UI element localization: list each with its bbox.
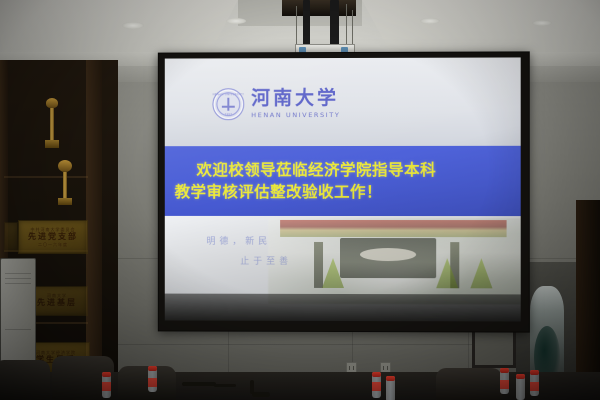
photo-building-roof [280, 220, 506, 237]
ac-vent [5, 283, 31, 284]
plaque-title: 先进党支部 [28, 232, 78, 242]
projector-mount-rod [303, 0, 310, 48]
wall-wood-post-right [576, 200, 600, 400]
bottle-label [530, 382, 539, 391]
downlight-icon [226, 18, 246, 24]
downlight-icon [420, 18, 440, 24]
bottle-cap [372, 372, 381, 377]
lecture-hall-photo: 中共河南大学委员会 先进党支部 二〇一六年度 河南大学 先进基层 河南大学经济学… [0, 0, 600, 400]
screen-shadow-band [165, 294, 521, 322]
meeting-chair [436, 368, 502, 400]
projector-cable [346, 4, 347, 48]
screen-surface: HENAN UNIVERSITY 1912 河南大学 HENAN UNIVERS… [165, 57, 521, 321]
photo-pillar [314, 242, 323, 288]
ceiling-coffer-left [0, 0, 238, 56]
ac-vent [5, 278, 31, 279]
university-seal-icon: HENAN UNIVERSITY 1912 [212, 88, 244, 120]
slide-headline-band: 欢迎校领导莅临经济学院指导本科 教学审核评估整改验收工作！ [165, 146, 521, 216]
plaque-title: 先进基层 [37, 298, 77, 308]
meeting-chair [0, 360, 50, 400]
university-name-en: HENAN UNIVERSITY [251, 111, 340, 119]
plaque-year: 二〇一六年度 [38, 242, 68, 247]
downlight-icon [532, 20, 552, 26]
bottle-cap [516, 374, 525, 379]
university-name-cn: 河南大学 [251, 89, 340, 108]
projector-cable [352, 10, 353, 48]
slide-headline-line2: 教学审核评估整改验收工作！ [175, 181, 511, 203]
downlight-icon [122, 22, 144, 29]
cabinet-shelf [4, 176, 88, 178]
seal-emblem-icon [222, 98, 235, 111]
conference-microphone [214, 384, 236, 387]
bottle-label [500, 380, 509, 389]
bottle-cap [530, 370, 539, 375]
meeting-chair [118, 366, 176, 400]
bottle-cap [500, 368, 509, 373]
slide-header: HENAN UNIVERSITY 1912 河南大学 HENAN UNIVERS… [165, 57, 521, 146]
ac-vent [5, 329, 31, 330]
seal-year: 1912 [225, 112, 233, 116]
photo-gate-plaque [360, 248, 416, 261]
bottle-label [148, 378, 157, 387]
bottle-cap [148, 366, 157, 371]
conference-microphone [252, 392, 270, 397]
seal-arc-text: HENAN UNIVERSITY [212, 93, 244, 96]
bottle-label [372, 382, 381, 391]
bottle-cap [386, 376, 395, 381]
conference-microphone [182, 382, 216, 386]
university-logo: HENAN UNIVERSITY 1912 河南大学 HENAN UNIVERS… [212, 88, 340, 120]
ac-vent [5, 273, 31, 274]
projector-cable [296, 6, 297, 48]
slide-headline-line1: 欢迎校领导莅临经济学院指导本科 [175, 159, 511, 181]
slide-motto-line1: 明德，新民 [206, 234, 271, 247]
projection-screen: HENAN UNIVERSITY 1912 河南大学 HENAN UNIVERS… [158, 51, 530, 332]
ceiling-coffer-right [362, 0, 600, 56]
projector-mount-rod [330, 0, 339, 48]
award-plaque: 中共河南大学委员会 先进党支部 二〇一六年度 [18, 220, 88, 254]
slide-motto-line2: 止于至善 [240, 254, 292, 267]
ceiling-access-panel [282, 0, 356, 16]
award-plaque [4, 222, 18, 252]
bottle-label [102, 382, 111, 391]
bottle-cap [102, 372, 111, 377]
